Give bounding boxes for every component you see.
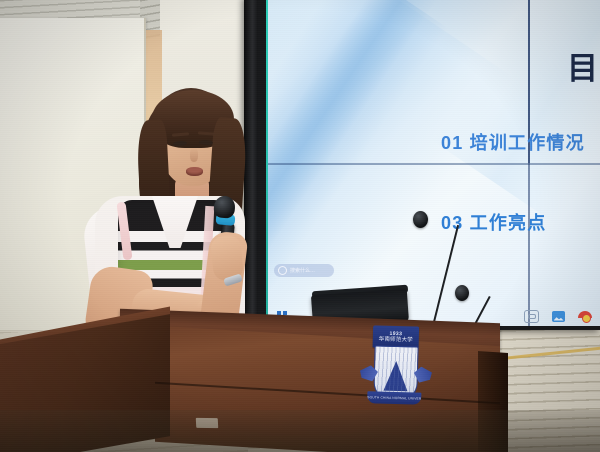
desktop-search-pill[interactable]: 搜索什么…: [274, 264, 334, 277]
slide-agenda-item-01: 01 培训工作情况: [441, 129, 585, 155]
slide-title: 目录: [567, 43, 600, 88]
university-crest: 1933 华南师范大学 SOUTH CHINA NORMAL UNIVERSIT…: [359, 325, 433, 415]
gooseneck-microphone-right-head: [455, 285, 469, 301]
presentation-photo-scene: 目录 01 培训工作情况 03 工作亮点 搜索什么…: [0, 0, 600, 452]
video-wall-left-edge: [244, 0, 258, 330]
gooseneck-microphone-left-head: [413, 211, 428, 228]
person-mouth: [186, 167, 203, 176]
handheld-microphone-head: [213, 195, 236, 219]
person-nose: [190, 148, 198, 162]
video-wall-screen[interactable]: 目录 01 培训工作情况 03 工作亮点 搜索什么…: [268, 0, 600, 326]
slide-background-band: [432, 0, 600, 224]
crest-ribbon-text: SOUTH CHINA NORMAL UNIVERSITY: [367, 391, 421, 400]
media-icon[interactable]: [578, 311, 592, 322]
taskbar-icon-group: [524, 310, 592, 323]
crest-university-name: 华南师范大学: [379, 336, 413, 344]
browser-icon[interactable]: [524, 310, 539, 323]
crest-ribbon: SOUTH CHINA NORMAL UNIVERSITY: [367, 391, 421, 404]
panel-seam-horizontal: [268, 163, 600, 165]
search-icon: [278, 266, 287, 275]
photos-icon[interactable]: [552, 311, 565, 322]
desktop-search-text: 搜索什么…: [290, 267, 315, 274]
floor-shadow: [0, 410, 600, 452]
